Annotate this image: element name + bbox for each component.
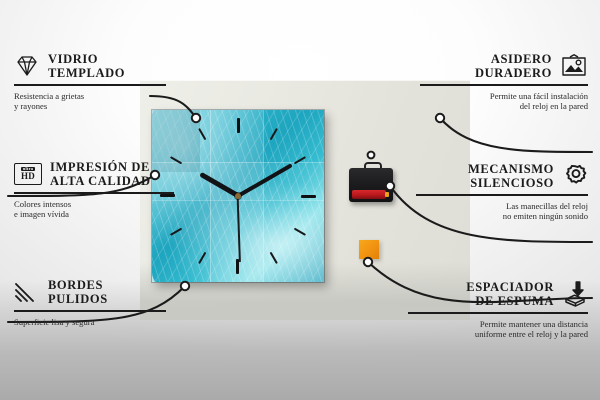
feature-desc-2: e imagen vívida <box>14 209 174 220</box>
feature-espaciador-de-espuma: ESPACIADOR DE ESPUMA Permite mantener un… <box>408 280 588 340</box>
feature-title-2: ALTA CALIDAD <box>50 174 151 188</box>
battery <box>352 190 386 199</box>
feature-title: IMPRESIÓN DE <box>50 160 151 174</box>
feature-desc-2: del reloj en la pared <box>420 101 588 112</box>
quartz-mechanism[interactable] <box>349 168 393 202</box>
feature-title-2: TEMPLADO <box>48 66 125 80</box>
feature-title: MECANISMO <box>468 162 554 176</box>
feature-title: VIDRIO <box>48 52 125 66</box>
feature-title: ESPACIADOR <box>466 280 554 294</box>
feature-vidrio-templado: VIDRIO TEMPLADO Resistencia a grietas y … <box>14 52 166 112</box>
feature-divider <box>420 84 588 86</box>
feature-desc-1: Permite una fácil instalación <box>420 91 588 102</box>
feature-desc-1: Colores intensos <box>14 199 174 210</box>
feature-divider <box>14 192 174 194</box>
feature-title-2: PULIDOS <box>48 292 108 306</box>
clock-tick <box>238 195 316 197</box>
feature-bordes-pulidos: BORDES PULIDOS Superficie lisa y segura <box>14 278 166 327</box>
feature-divider <box>416 194 588 196</box>
feature-title: ASIDERO <box>475 52 552 66</box>
feature-desc-2: uniforme entre el reloj y la pared <box>408 329 588 340</box>
feature-desc-1: Las manecillas del reloj <box>416 201 588 212</box>
wall-hanger-frame-icon <box>560 54 588 78</box>
clock-tick <box>237 118 239 196</box>
feature-asidero-duradero: ASIDERO DURADERO Permite una fácil insta… <box>420 52 588 112</box>
feature-divider <box>14 310 166 312</box>
gear-icon <box>562 164 588 188</box>
foam-spacer-sample[interactable] <box>359 240 379 259</box>
ultra-hd-icon: ultra HD <box>14 163 42 185</box>
ultra-hd-icon-big-label: HD <box>21 172 35 181</box>
feature-desc-1: Resistencia a grietas <box>14 91 166 102</box>
feature-desc-2: no emiten ningún sonido <box>416 211 588 222</box>
feature-desc-2: y rayones <box>14 101 166 112</box>
feature-title-2: SILENCIOSO <box>468 176 554 190</box>
feature-divider <box>408 312 588 314</box>
foam-spacer-arrow-icon <box>562 281 588 307</box>
feature-divider <box>14 84 166 86</box>
feature-desc-1: Superficie lisa y segura <box>14 317 166 328</box>
feature-impresion-alta-calidad: ultra HD IMPRESIÓN DE ALTA CALIDAD Color… <box>14 160 174 220</box>
infographic-canvas: VIDRIO TEMPLADO Resistencia a grietas y … <box>0 0 600 400</box>
feature-title-2: DURADERO <box>475 66 552 80</box>
diamond-icon <box>14 55 40 77</box>
feature-mecanismo-silencioso: MECANISMO SILENCIOSO Las manecillas del … <box>416 162 588 222</box>
clock-center-cap <box>235 193 241 199</box>
polished-edges-icon <box>14 281 40 303</box>
wall-clock-product[interactable] <box>152 110 324 282</box>
feature-desc-1: Permite mantener una distancia <box>408 319 588 330</box>
feature-title: BORDES <box>48 278 108 292</box>
feature-title-2: DE ESPUMA <box>466 294 554 308</box>
